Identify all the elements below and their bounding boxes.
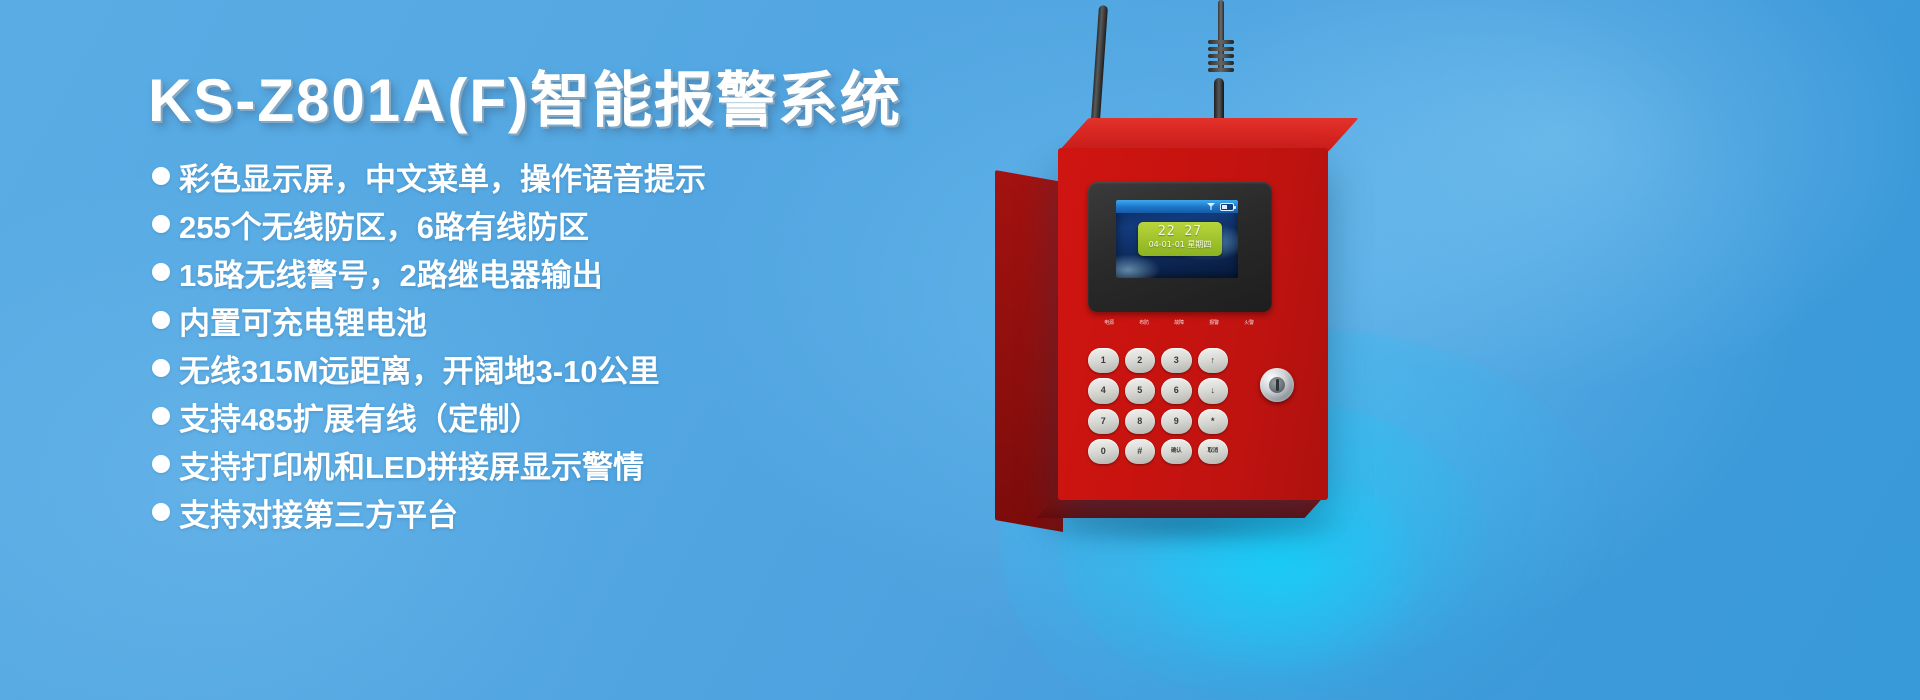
alarm-control-panel: 22 27 04-01-01 星期四 电源 布防 故障 报警: [960, 0, 1520, 700]
lcd-date: 04-01-01 星期四: [1138, 239, 1222, 250]
lock-keyhole: [1269, 377, 1285, 393]
key-7[interactable]: 7: [1088, 409, 1119, 434]
status-badge: 火警: [1238, 320, 1260, 326]
list-item-label: 彩色显示屏，中文菜单，操作语音提示: [179, 154, 706, 199]
status-badge: 布防: [1133, 320, 1155, 326]
signal-icon: [1207, 203, 1215, 210]
key-3[interactable]: 3: [1161, 348, 1192, 373]
enclosure-top-panel: [1058, 118, 1359, 152]
status-badge: 故障: [1168, 320, 1190, 326]
display-bezel: 22 27 04-01-01 星期四: [1088, 182, 1272, 312]
list-item: 彩色显示屏，中文菜单，操作语音提示: [152, 152, 1052, 200]
list-item-label: 255个无线防区，6路有线防区: [179, 202, 589, 247]
list-item: 支持对接第三方平台: [152, 488, 1052, 536]
page-title: KS-Z801A(F)智能报警系统: [148, 52, 902, 139]
bullet-dot-icon: [152, 407, 170, 425]
lcd-screen[interactable]: 22 27 04-01-01 星期四: [1116, 200, 1238, 278]
bullet-dot-icon: [152, 167, 170, 185]
bullet-dot-icon: [152, 359, 170, 377]
feature-list: 彩色显示屏，中文菜单，操作语音提示 255个无线防区，6路有线防区 15路无线警…: [152, 152, 1052, 536]
key-up-arrow[interactable]: ↑: [1198, 348, 1229, 373]
key-cancel[interactable]: 取消: [1198, 439, 1229, 464]
list-item: 内置可充电锂电池: [152, 296, 1052, 344]
led-label: 布防: [1133, 320, 1155, 326]
status-badge: 报警: [1203, 320, 1225, 326]
key-4[interactable]: 4: [1088, 378, 1119, 403]
product-banner: KS-Z801A(F)智能报警系统 彩色显示屏，中文菜单，操作语音提示 255个…: [0, 0, 1920, 700]
list-item: 支持485扩展有线（定制）: [152, 392, 1052, 440]
led-label: 故障: [1168, 320, 1190, 326]
list-item: 支持打印机和LED拼接屏显示警情: [152, 440, 1052, 488]
bullet-dot-icon: [152, 215, 170, 233]
lcd-clock-box: 22 27 04-01-01 星期四: [1138, 222, 1222, 256]
key-5[interactable]: 5: [1125, 378, 1156, 403]
led-label: 报警: [1203, 320, 1225, 326]
led-indicator-row: 电源 布防 故障 报警 火警: [1098, 320, 1268, 342]
keypad[interactable]: 1 2 3 ↑ 4 5 6 ↓ 7 8 9 * 0 # 确认 取消: [1088, 348, 1228, 464]
key-lock-icon[interactable]: [1260, 368, 1294, 402]
list-item: 15路无线警号，2路继电器输出: [152, 248, 1052, 296]
battery-icon: [1220, 203, 1234, 211]
list-item-label: 支持对接第三方平台: [179, 490, 458, 535]
led-label: 火警: [1238, 320, 1260, 326]
list-item-label: 15路无线警号，2路继电器输出: [179, 250, 603, 295]
lcd-status-bar: [1116, 200, 1238, 213]
key-1[interactable]: 1: [1088, 348, 1119, 373]
bullet-dot-icon: [152, 455, 170, 473]
bullet-dot-icon: [152, 311, 170, 329]
key-9[interactable]: 9: [1161, 409, 1192, 434]
antenna-coil-icon: [1208, 40, 1234, 78]
list-item: 无线315M远距离，开阔地3-10公里: [152, 344, 1052, 392]
enclosure-side-panel: [995, 170, 1063, 532]
list-item-label: 支持485扩展有线（定制）: [179, 394, 541, 439]
key-0[interactable]: 0: [1088, 439, 1119, 464]
list-item-label: 支持打印机和LED拼接屏显示警情: [179, 442, 644, 487]
key-8[interactable]: 8: [1125, 409, 1156, 434]
key-confirm[interactable]: 确认: [1161, 439, 1192, 464]
led-label: 电源: [1098, 320, 1120, 326]
key-down-arrow[interactable]: ↓: [1198, 378, 1229, 403]
list-item-label: 无线315M远距离，开阔地3-10公里: [179, 346, 660, 391]
lcd-time: 22 27: [1138, 224, 1222, 239]
key-6[interactable]: 6: [1161, 378, 1192, 403]
key-star[interactable]: *: [1198, 409, 1229, 434]
bullet-dot-icon: [152, 503, 170, 521]
key-hash[interactable]: #: [1125, 439, 1156, 464]
list-item: 255个无线防区，6路有线防区: [152, 200, 1052, 248]
key-2[interactable]: 2: [1125, 348, 1156, 373]
bullet-dot-icon: [152, 263, 170, 281]
status-badge: 电源: [1098, 320, 1120, 326]
list-item-label: 内置可充电锂电池: [179, 298, 427, 343]
